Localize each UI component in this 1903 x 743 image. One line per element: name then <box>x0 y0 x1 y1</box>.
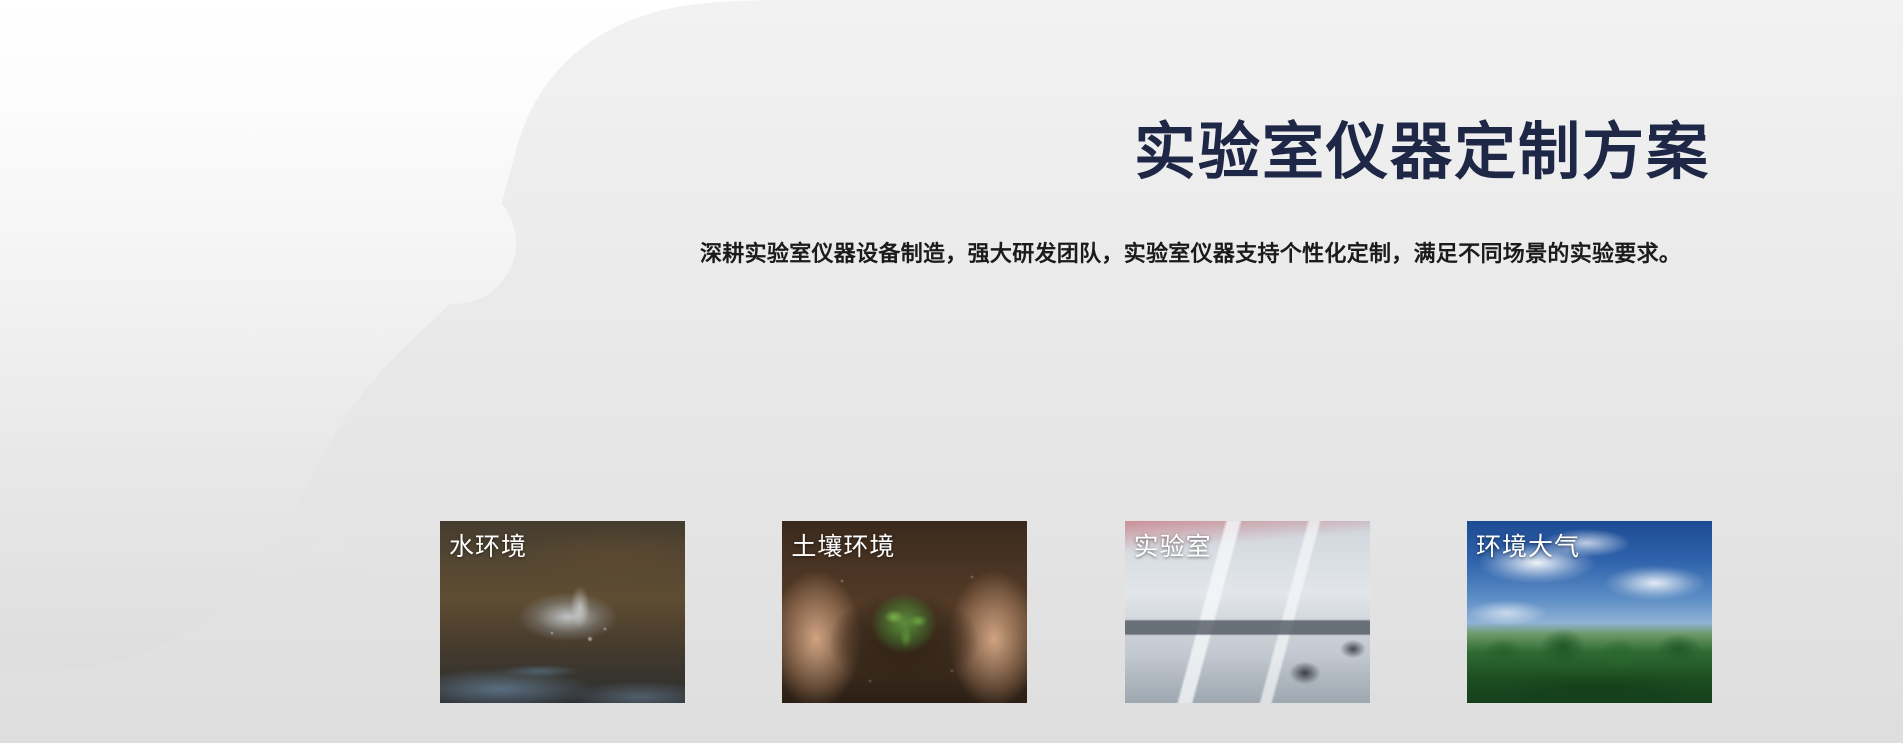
page-subtitle: 深耕实验室仪器设备制造，强大研发团队，实验室仪器支持个性化定制，满足不同场景的实… <box>700 187 1710 273</box>
category-card-laboratory[interactable]: 实验室 <box>1125 521 1370 703</box>
headline-block: 实验室仪器定制方案 深耕实验室仪器设备制造，强大研发团队，实验室仪器支持个性化定… <box>700 120 1710 273</box>
category-card-label: 环境大气 <box>1476 532 1580 563</box>
category-card-strip: 水环境 土壤环境 实验室 环境大气 <box>440 521 1712 703</box>
category-card-label: 水环境 <box>449 532 527 563</box>
category-card-atmosphere[interactable]: 环境大气 <box>1467 521 1712 703</box>
category-card-water[interactable]: 水环境 <box>440 521 685 703</box>
laboratory-instrument-custom-solution-banner: 实验室仪器定制方案 深耕实验室仪器设备制造，强大研发团队，实验室仪器支持个性化定… <box>0 0 1903 743</box>
category-card-label: 实验室 <box>1134 532 1212 563</box>
category-card-soil[interactable]: 土壤环境 <box>782 521 1027 703</box>
page-title: 实验室仪器定制方案 <box>700 120 1710 187</box>
category-card-label: 土壤环境 <box>791 532 895 563</box>
